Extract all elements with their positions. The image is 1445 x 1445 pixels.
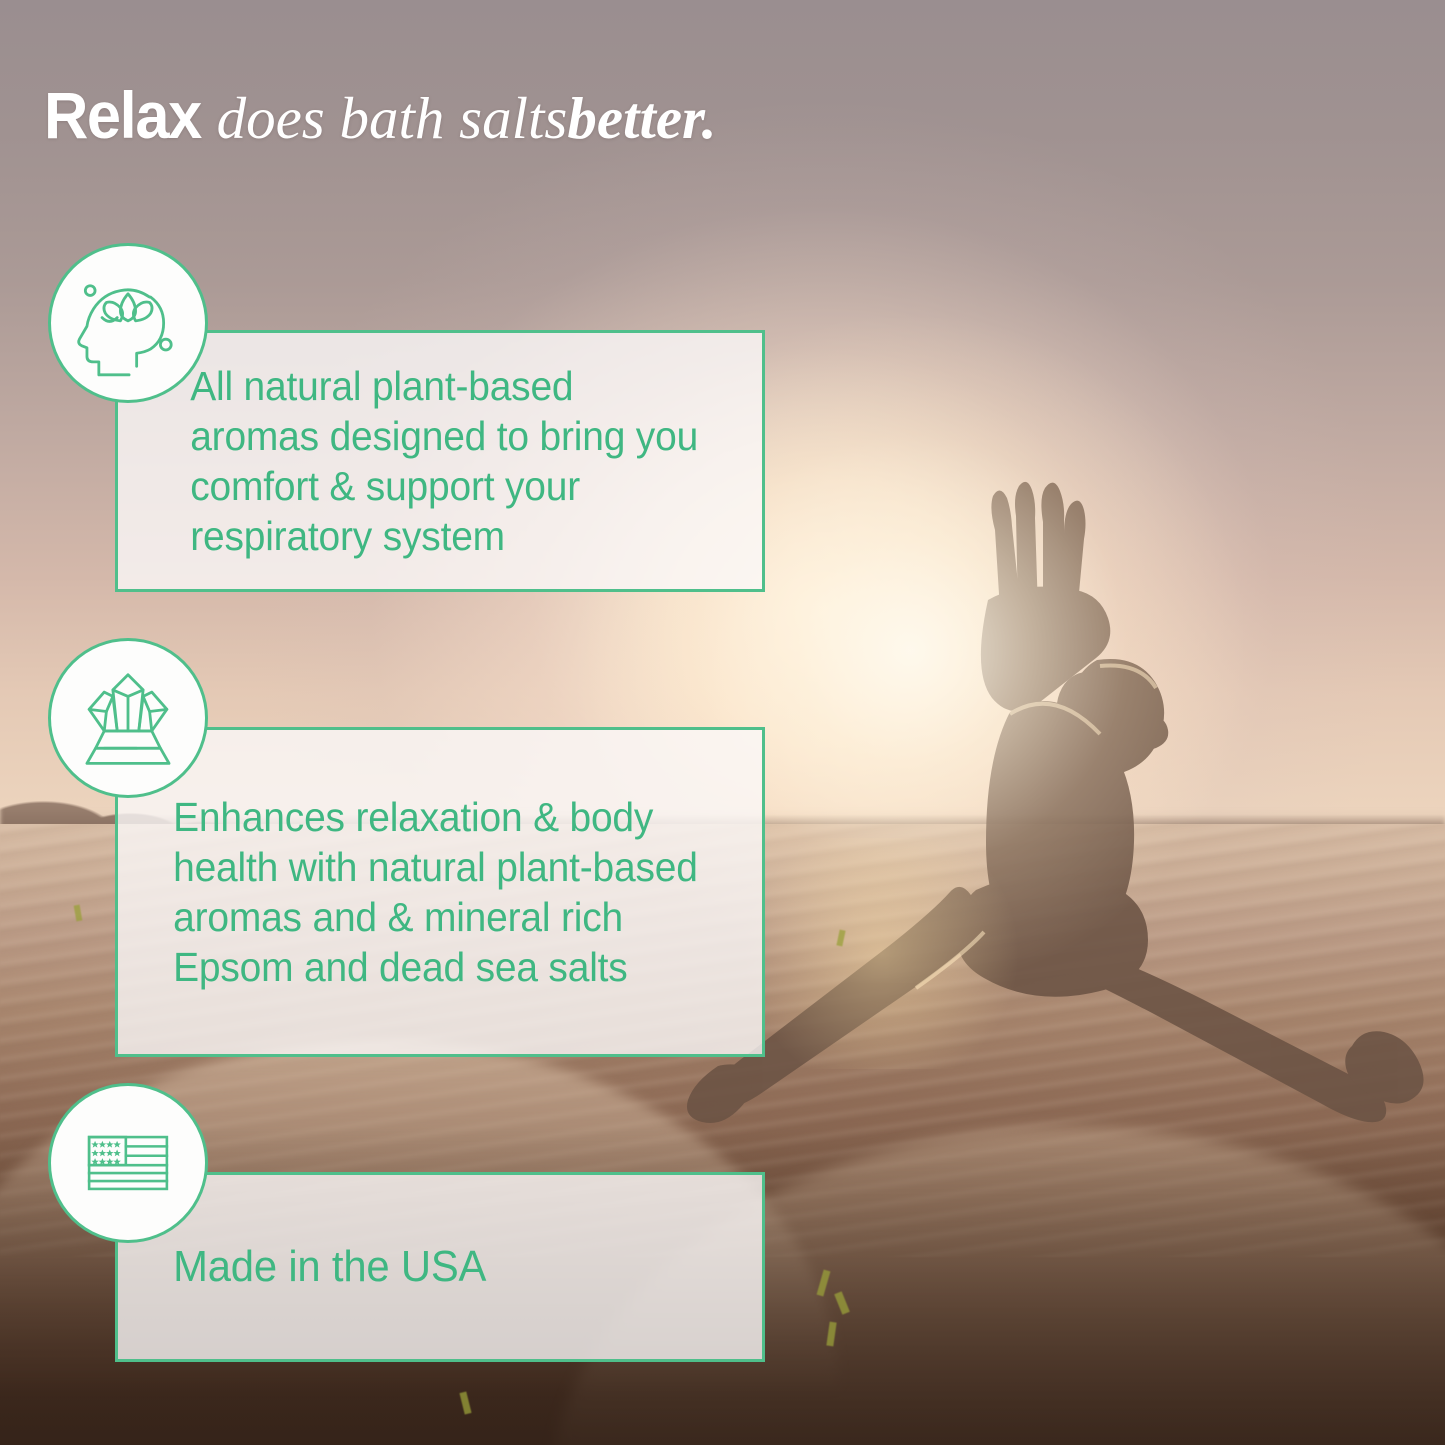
feature-box-2: Enhances relaxation & body health with n… (115, 727, 765, 1057)
headline-emphasis: better. (567, 89, 716, 148)
salt-crystals-icon-badge (48, 638, 208, 798)
feature-text-3: Made in the USA (118, 1240, 509, 1294)
feature-text-2: Enhances relaxation & body health with n… (118, 792, 730, 992)
usa-flag-icon-badge (48, 1083, 208, 1243)
headline-middle: does bath salts (217, 89, 568, 148)
feature-text-1: All natural plant-based aromas designed … (118, 361, 730, 561)
salt-crystals-icon (74, 664, 182, 772)
headline-brand: Relax (44, 82, 201, 148)
head-lotus-icon (74, 269, 182, 377)
headline: Relax does bath salts better. (44, 82, 717, 148)
usa-flag-icon (74, 1109, 182, 1217)
product-feature-banner: Relax does bath salts better. All natura… (0, 0, 1445, 1445)
feature-box-3: Made in the USA (115, 1172, 765, 1362)
head-lotus-icon-badge (48, 243, 208, 403)
feature-box-1: All natural plant-based aromas designed … (115, 330, 765, 592)
flag-stars (91, 1141, 121, 1165)
